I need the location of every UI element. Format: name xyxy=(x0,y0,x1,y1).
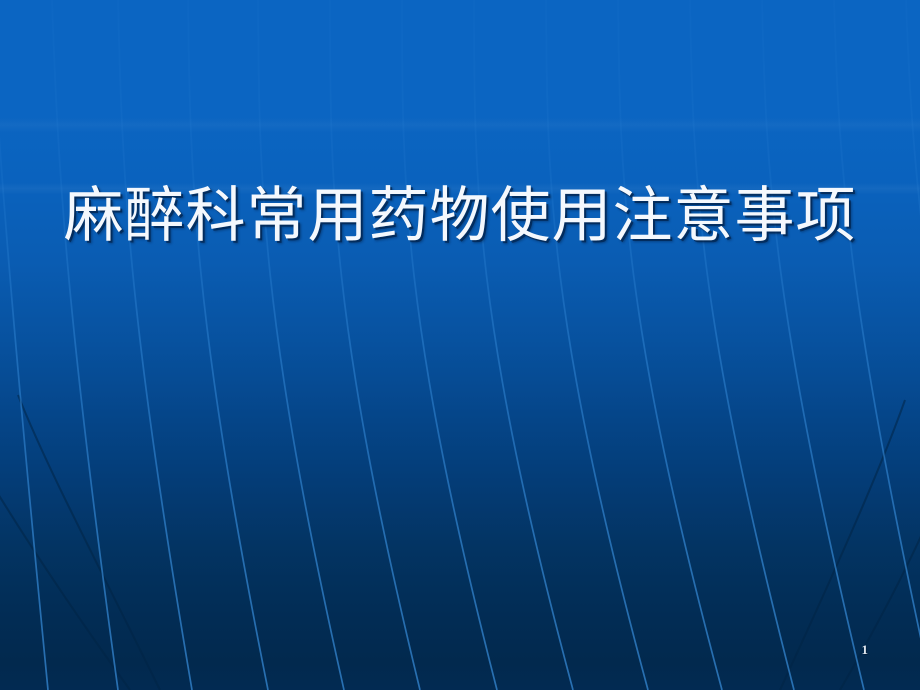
slide-title: 麻醉科常用药物使用注意事项 xyxy=(40,176,880,256)
presentation-slide: 麻醉科常用药物使用注意事项 1 xyxy=(0,0,920,690)
slide-number: 1 xyxy=(862,643,869,656)
slide-background-gradient xyxy=(0,0,920,690)
slide-title-block: 麻醉科常用药物使用注意事项 xyxy=(0,176,920,256)
